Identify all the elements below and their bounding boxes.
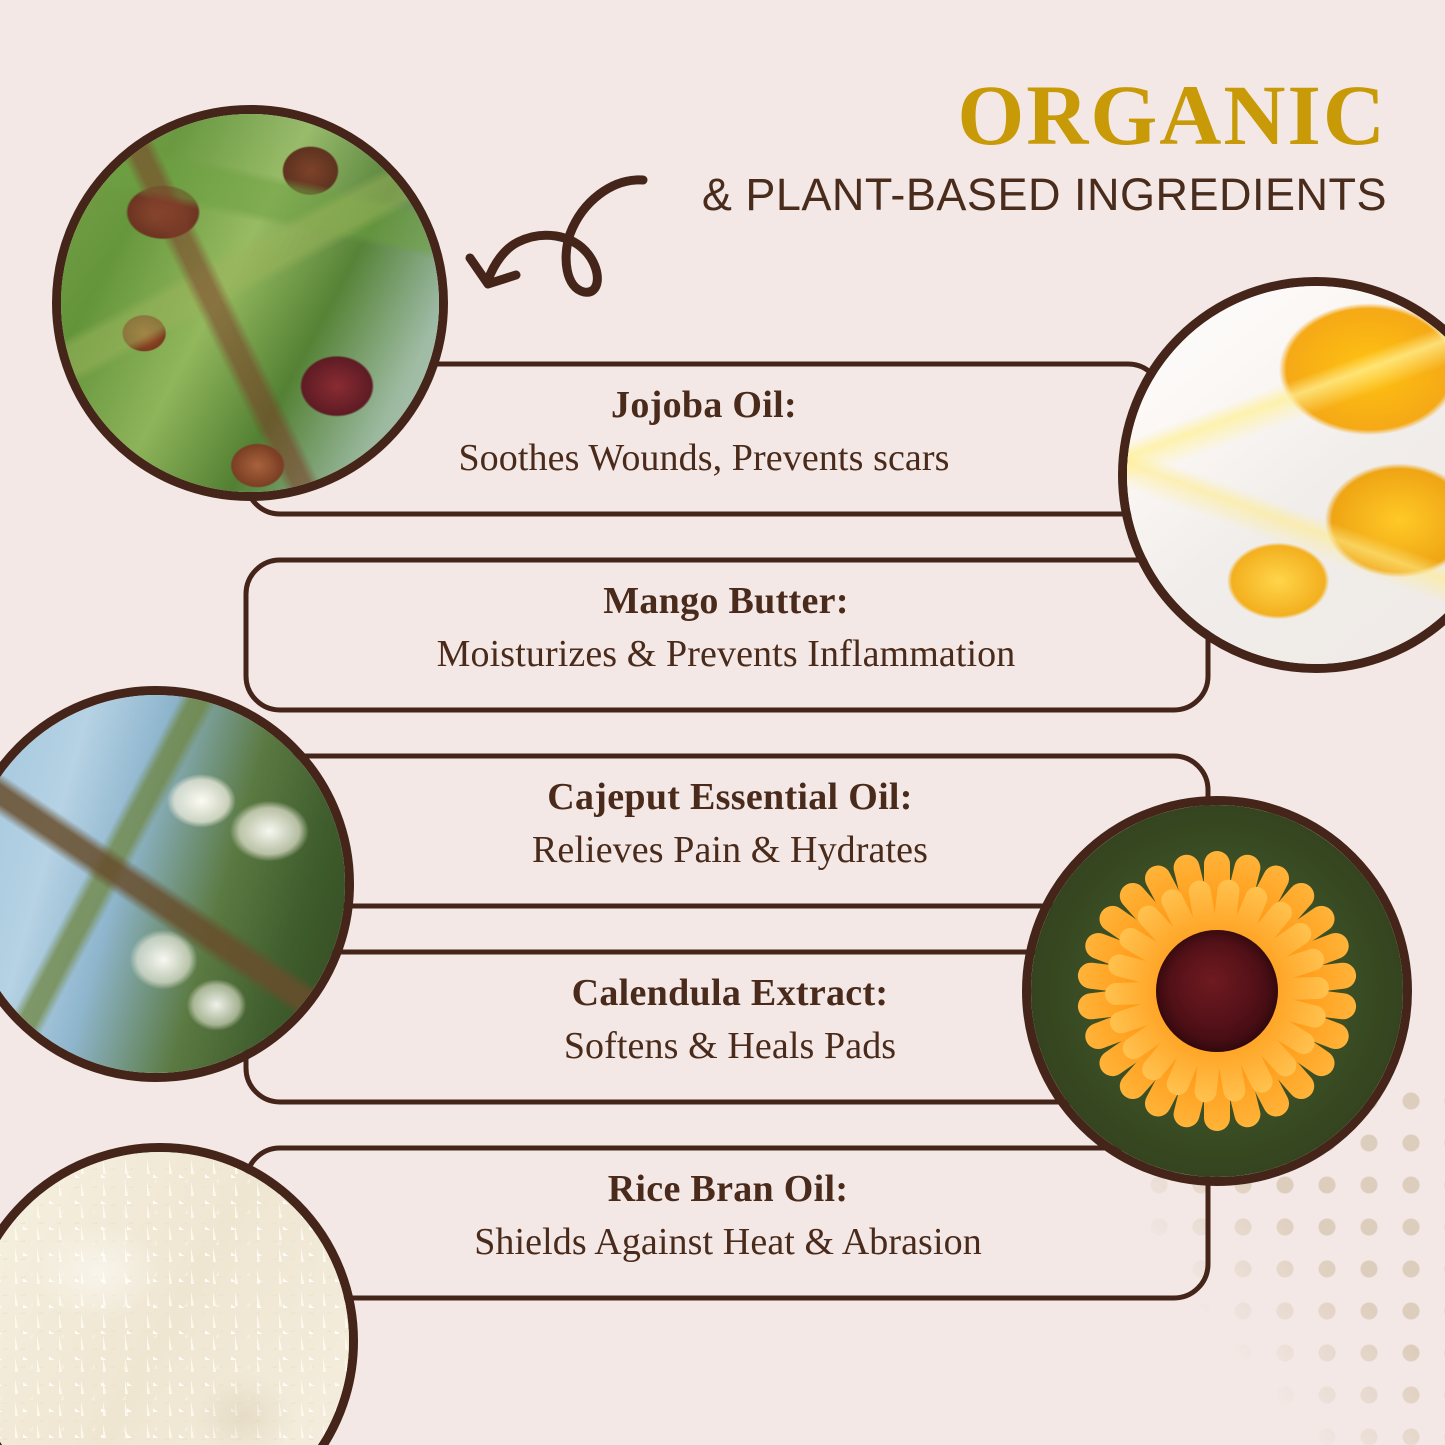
ingredient-title-cajeput: Cajeput Essential Oil: <box>330 775 1130 819</box>
ingredient-label-jojoba: Jojoba Oil: Soothes Wounds, Prevents sca… <box>320 383 1088 480</box>
ingredient-title-rice-bran: Rice Bran Oil: <box>300 1167 1156 1211</box>
ingredient-title-mango-butter: Mango Butter: <box>280 579 1172 623</box>
ingredient-image-cajeput <box>0 686 354 1082</box>
ingredient-title-jojoba: Jojoba Oil: <box>320 383 1088 427</box>
headline-subtitle: & PLANT-BASED INGREDIENTS <box>702 172 1387 217</box>
ingredient-label-cajeput: Cajeput Essential Oil: Relieves Pain & H… <box>330 775 1130 872</box>
ingredients-infographic: ORGANIC & PLANT-BASED INGREDIENTS <box>0 0 1445 1445</box>
ingredient-desc-rice-bran: Shields Against Heat & Abrasion <box>300 1220 1156 1264</box>
page-title: ORGANIC & PLANT-BASED INGREDIENTS <box>702 72 1387 217</box>
ingredient-label-rice-bran: Rice Bran Oil: Shields Against Heat & Ab… <box>300 1167 1156 1264</box>
ingredient-label-mango-butter: Mango Butter: Moisturizes & Prevents Inf… <box>280 579 1172 676</box>
ingredient-desc-cajeput: Relieves Pain & Hydrates <box>330 828 1130 872</box>
ingredient-desc-jojoba: Soothes Wounds, Prevents scars <box>320 436 1088 480</box>
curly-arrow-icon <box>462 172 652 317</box>
ingredient-desc-mango-butter: Moisturizes & Prevents Inflammation <box>280 632 1172 676</box>
headline-organic: ORGANIC <box>702 72 1387 158</box>
calendula-center <box>1156 930 1278 1052</box>
ingredient-title-calendula: Calendula Extract: <box>330 971 1130 1015</box>
ingredient-label-calendula: Calendula Extract: Softens & Heals Pads <box>330 971 1130 1068</box>
ingredient-desc-calendula: Softens & Heals Pads <box>330 1024 1130 1068</box>
